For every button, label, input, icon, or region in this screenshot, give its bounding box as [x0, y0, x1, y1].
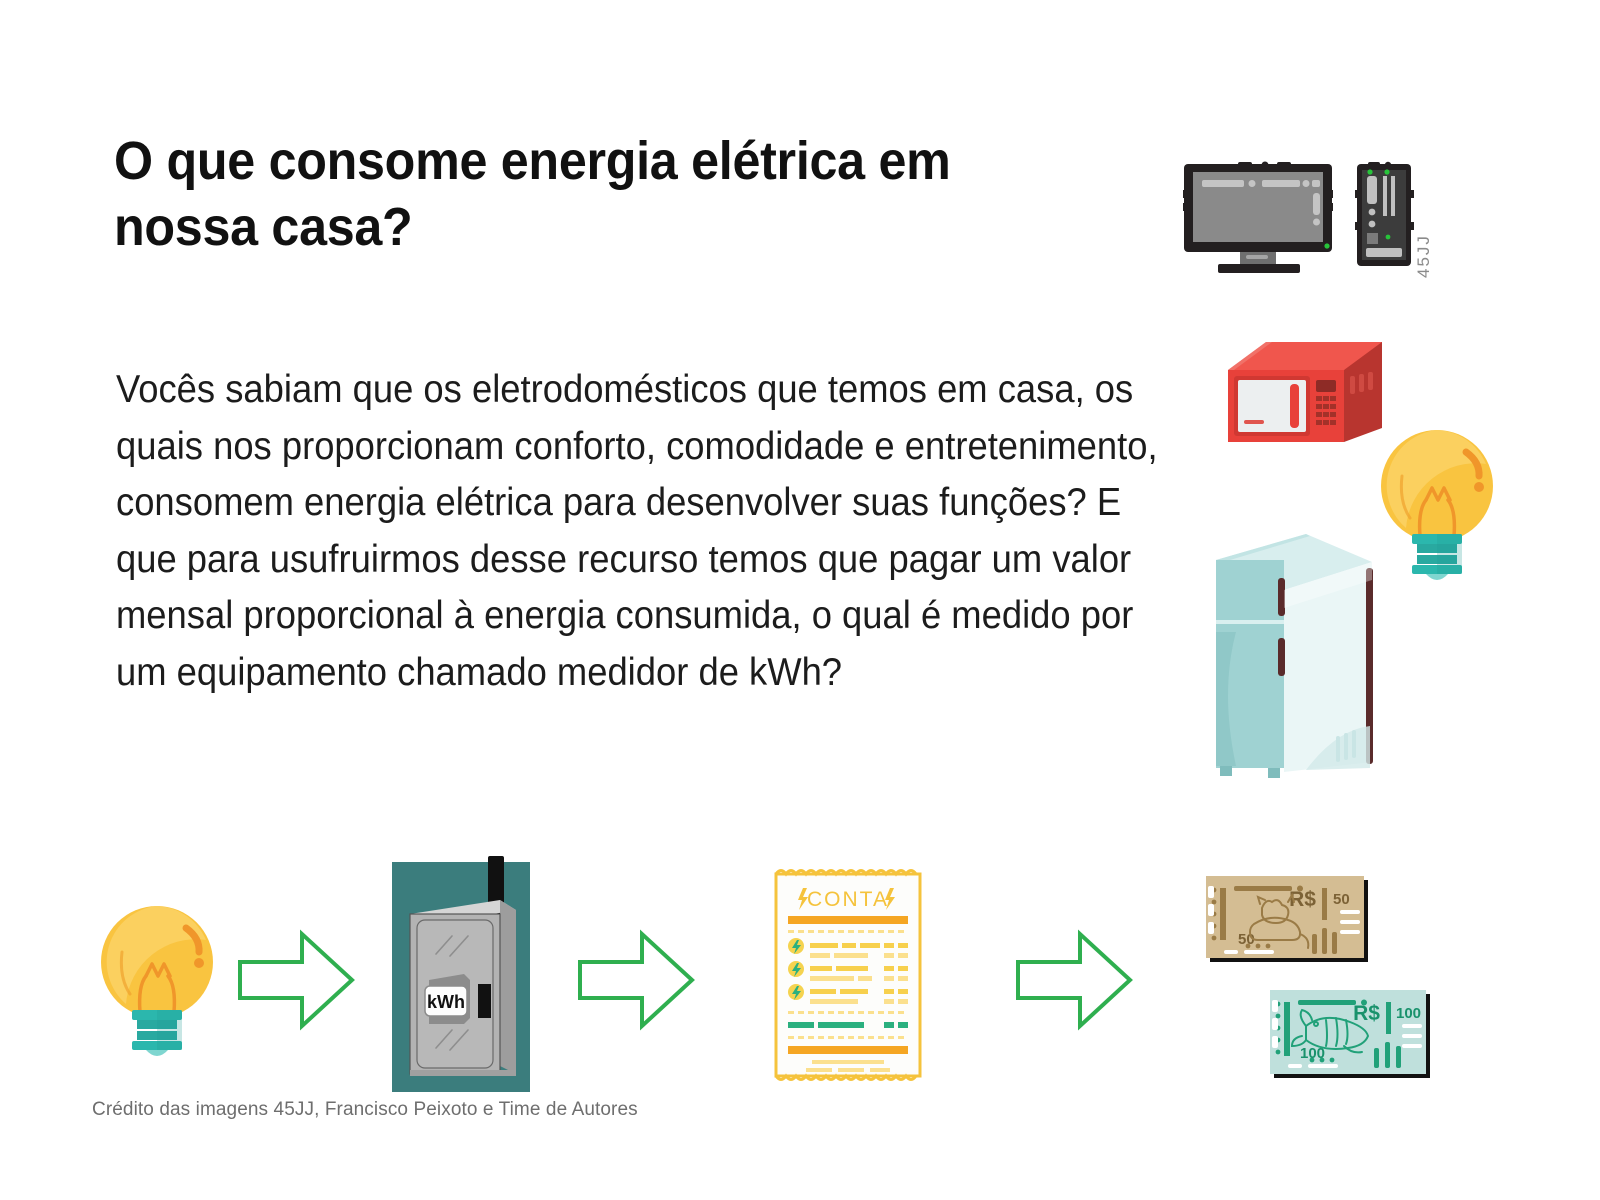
banknote-50-value-top: 50 [1333, 891, 1350, 908]
light-bulb-illustration-flow [96, 900, 218, 1060]
banknote-100: R$ 100 100 [1270, 990, 1430, 1078]
banknote-100-value-top: 100 [1396, 1005, 1421, 1022]
monitor-icon [1183, 162, 1333, 274]
microwave-illustration [1222, 336, 1382, 448]
flow-arrow-2-icon [576, 928, 696, 1032]
computer-tower-icon [1355, 162, 1414, 266]
image-credit: Crédito das imagens 45JJ, Francisco Peix… [92, 1099, 638, 1121]
light-bulb-illustration-right [1376, 424, 1498, 584]
flow-arrow-1-icon [236, 928, 356, 1032]
electricity-meter-illustration: kWh [392, 856, 530, 1092]
refrigerator-illustration [1206, 520, 1378, 782]
computer-watermark-label: 45JJ [1414, 234, 1434, 278]
banknote-100-currency: R$ [1353, 1002, 1380, 1025]
page-title: O que consome energia elétrica em nossa … [114, 128, 1053, 261]
banknotes-illustration: R$ 50 50 [1204, 868, 1430, 1080]
flow-arrow-3-icon [1014, 928, 1134, 1032]
bill-heading: CONTA [807, 888, 889, 911]
body-paragraph: Vocês sabiam que os eletrodomésticos que… [116, 362, 1179, 702]
slide-canvas: O que consome energia elétrica em nossa … [0, 0, 1600, 1200]
electricity-bill-illustration: CONTA [772, 866, 924, 1084]
meter-kwh-label: kWh [427, 992, 465, 1012]
banknote-50: R$ 50 50 [1206, 876, 1368, 962]
